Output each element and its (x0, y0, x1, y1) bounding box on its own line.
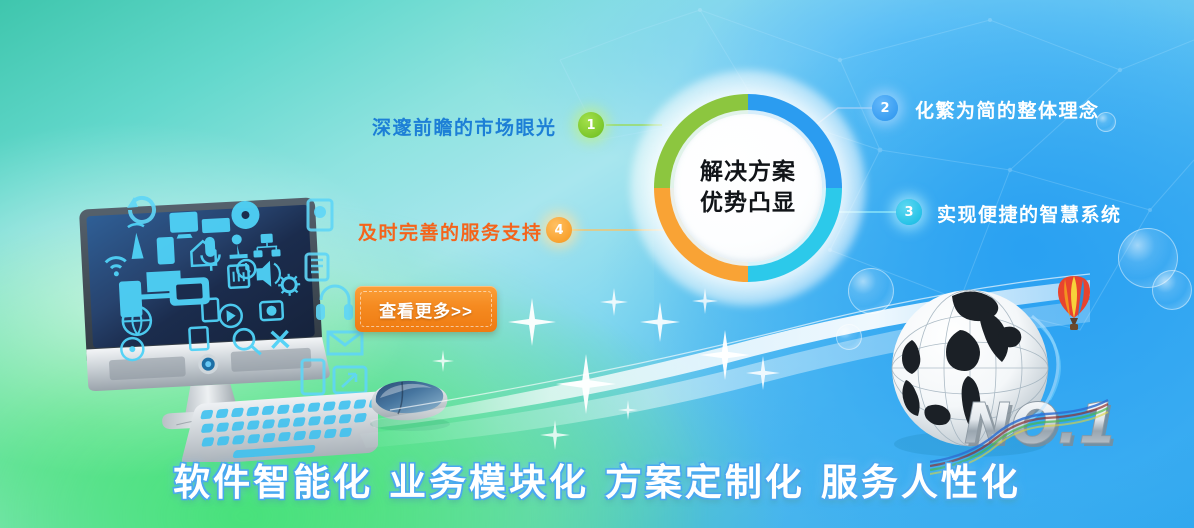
feature-label-2: 化繁为简的整体理念 (915, 96, 1100, 123)
bubble-decoration (848, 268, 894, 314)
view-more-button[interactable]: 查看更多>> (355, 286, 497, 332)
view-more-label: 查看更多>> (360, 291, 492, 327)
feature-label-1: 深邃前瞻的市场眼光 (372, 113, 557, 140)
desktop-computer-illustration (78, 192, 378, 462)
computer-mouse-illustration (358, 368, 462, 434)
feature-label-4: 及时完善的服务支持 (358, 218, 543, 245)
feature-badge-4[interactable]: 4 (546, 217, 572, 243)
solution-ring: 解决方案 优势凸显 (648, 88, 848, 288)
feature-label-3: 实现便捷的智慧系统 (937, 200, 1122, 227)
feature-badge-1[interactable]: 1 (578, 112, 604, 138)
feature-badge-2[interactable]: 2 (872, 95, 898, 121)
ring-center-line1: 解决方案 (700, 157, 796, 188)
ring-center-line2: 优势凸显 (700, 188, 796, 219)
bubble-decoration (836, 324, 862, 350)
bubble-decoration (1152, 270, 1192, 310)
feature-badge-3[interactable]: 3 (896, 199, 922, 225)
bottom-tagline: 软件智能化 业务模块化 方案定制化 服务人性化 (0, 452, 1194, 506)
promo-banner: NO.1 NO.1 (0, 0, 1194, 528)
ring-center-label: 解决方案 优势凸显 (674, 114, 822, 262)
